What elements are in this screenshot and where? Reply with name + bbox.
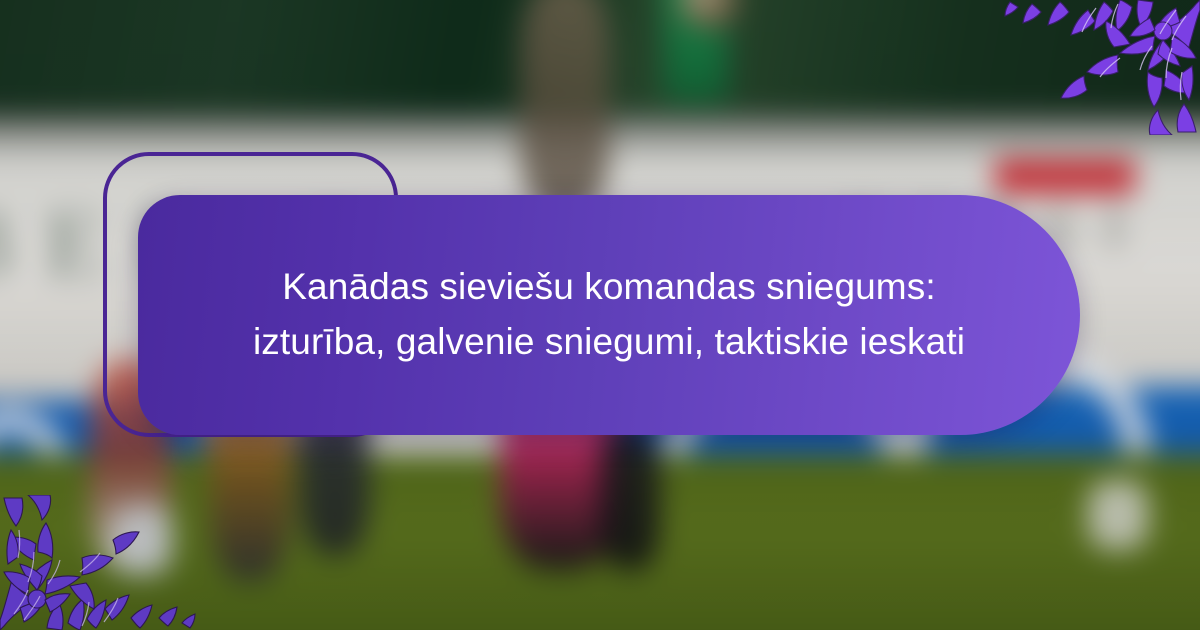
title-line-1: Kanādas sieviešu komandas sniegums: xyxy=(253,260,965,315)
page-title: Kanādas sieviešu komandas sniegums: iztu… xyxy=(213,260,1005,370)
title-line-2: izturība, galvenie sniegumi, taktiskie i… xyxy=(253,315,965,370)
hero-card: Kanādas sieviešu komandas sniegums: iztu… xyxy=(138,195,1080,435)
banner-stage: BER Bordogna CASSI xyxy=(0,0,1200,630)
